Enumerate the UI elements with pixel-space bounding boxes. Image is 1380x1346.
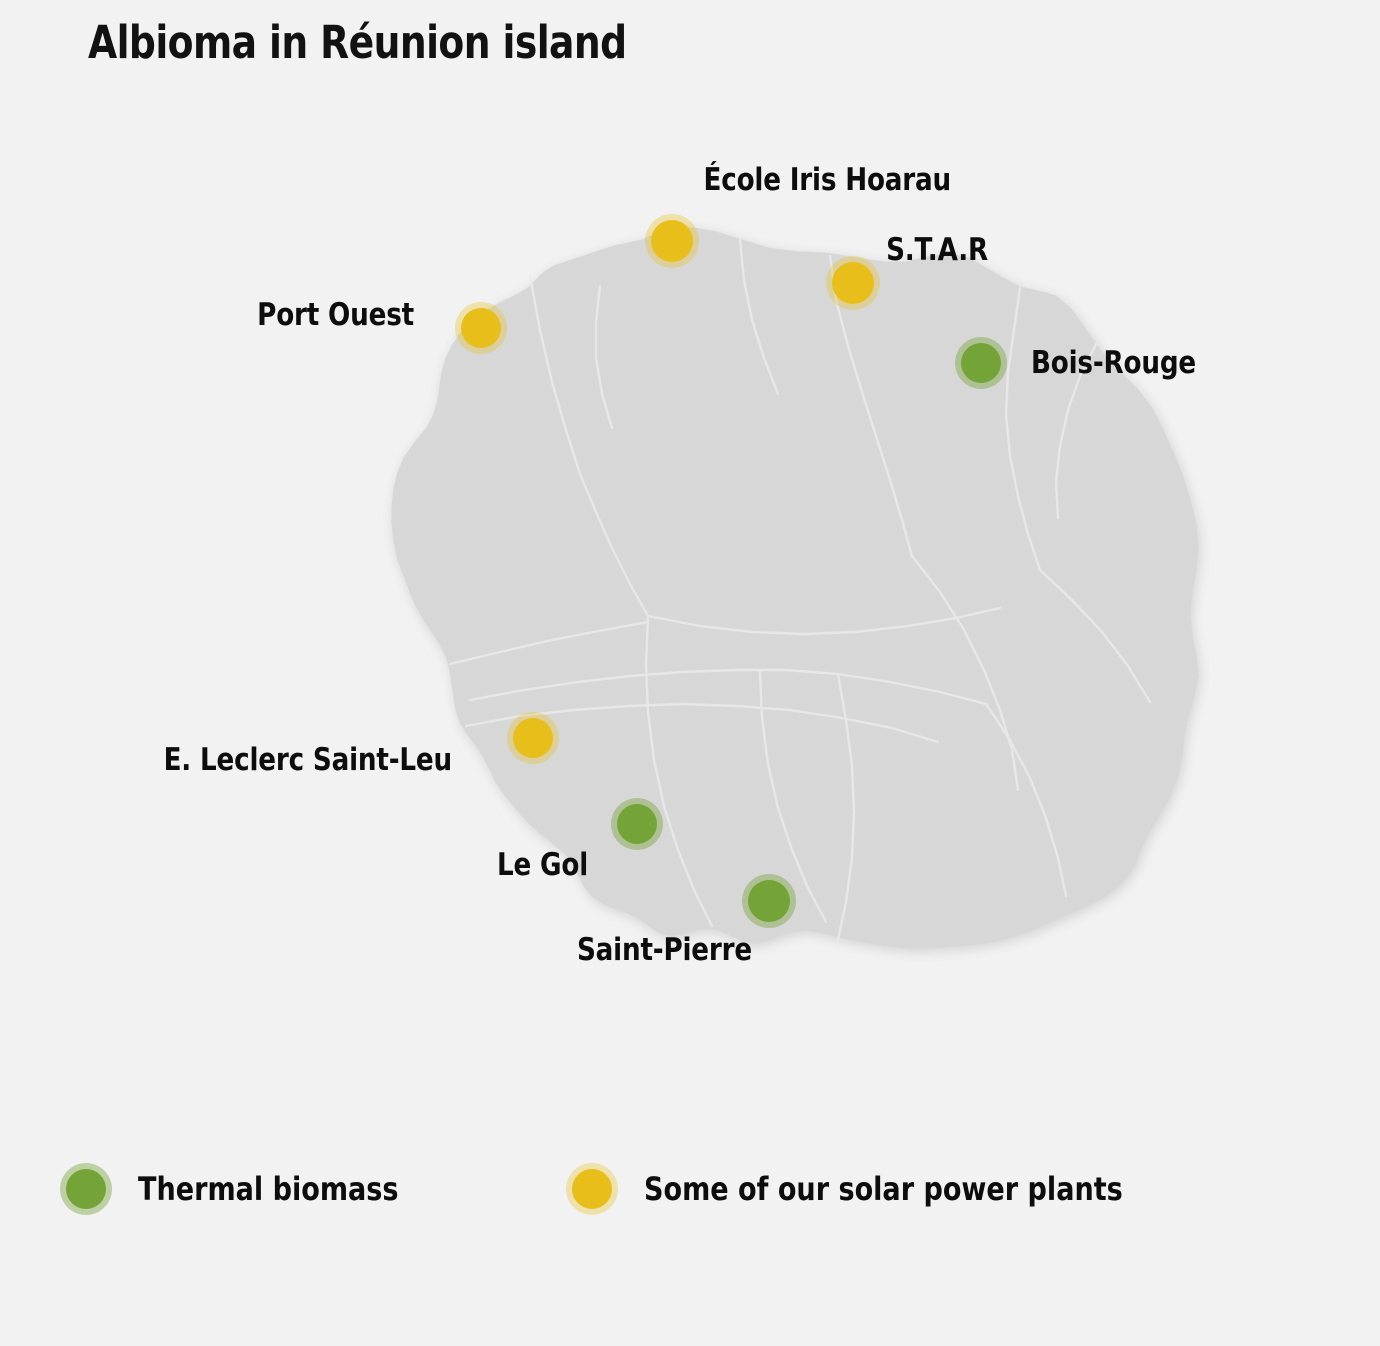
legend-item-thermal-biomass[interactable]: Thermal biomass <box>60 1163 415 1215</box>
marker-core <box>961 343 1001 383</box>
legend-swatch-solar-icon <box>566 1163 618 1215</box>
map-label-star: S.T.A.R <box>886 232 988 268</box>
island-landmass <box>392 228 1198 948</box>
marker-core <box>461 308 501 348</box>
map-marker-le-gol[interactable] <box>611 798 663 850</box>
map-label-port-ouest: Port Ouest <box>257 297 414 333</box>
island-shape-svg <box>0 0 1380 1346</box>
marker-core <box>832 262 874 304</box>
map-label-bois-rouge: Bois-Rouge <box>1031 345 1196 381</box>
map-marker-port-ouest[interactable] <box>455 302 507 354</box>
reunion-island-map: École Iris Hoarau S.T.A.R Port Ouest Boi… <box>0 0 1380 1346</box>
legend: Thermal biomass Some of our solar power … <box>0 1155 1380 1235</box>
map-label-le-gol: Le Gol <box>497 847 588 883</box>
map-marker-saint-pierre[interactable] <box>742 874 796 928</box>
marker-core <box>617 804 657 844</box>
marker-core <box>748 880 790 922</box>
map-label-ecole-iris-hoarau: École Iris Hoarau <box>704 162 951 198</box>
map-marker-bois-rouge[interactable] <box>955 337 1007 389</box>
map-marker-e-leclerc-saint-leu[interactable] <box>507 712 559 764</box>
legend-item-solar-power-plants[interactable]: Some of our solar power plants <box>566 1163 1153 1215</box>
legend-label-thermal-biomass: Thermal biomass <box>138 1170 398 1208</box>
legend-swatch-core <box>66 1169 106 1209</box>
legend-swatch-biomass-icon <box>60 1163 112 1215</box>
map-label-saint-pierre: Saint-Pierre <box>577 932 752 968</box>
legend-label-solar-power-plants: Some of our solar power plants <box>644 1170 1123 1208</box>
map-marker-star[interactable] <box>826 256 880 310</box>
map-label-e-leclerc-saint-leu: E. Leclerc Saint-Leu <box>164 742 452 778</box>
legend-swatch-core <box>572 1169 612 1209</box>
marker-core <box>513 718 553 758</box>
map-marker-ecole-iris-hoarau[interactable] <box>645 214 699 268</box>
map-infographic: Albioma in Réunion island <box>0 0 1380 1346</box>
marker-core <box>651 220 693 262</box>
